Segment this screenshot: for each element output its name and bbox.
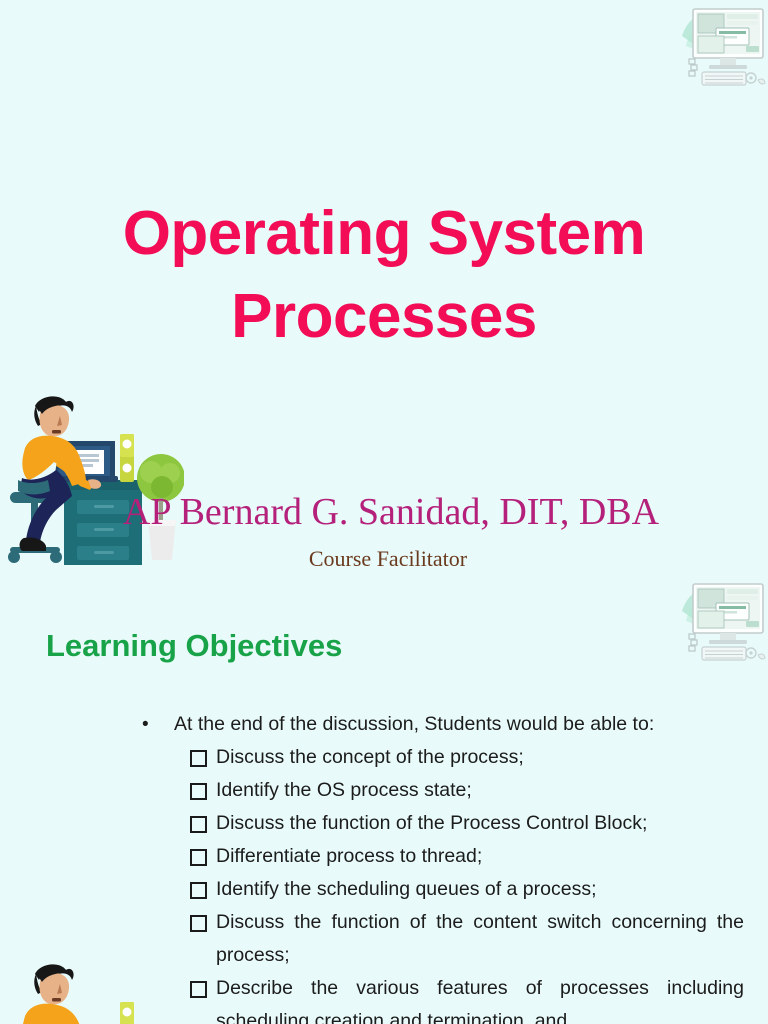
list-item-label: Identify the OS process state; xyxy=(216,774,746,807)
page-title: Operating System Processes xyxy=(0,192,768,358)
title-line-1: Operating System xyxy=(0,192,768,275)
objectives-lead-row: • At the end of the discussion, Students… xyxy=(142,708,746,741)
author-name: AP Bernard G. Sanidad, DIT, DBA xyxy=(0,489,768,535)
checkbox-icon xyxy=(190,774,216,800)
section-heading-learning-objectives: Learning Objectives xyxy=(46,626,342,666)
list-item-label: Discuss the function of the content swit… xyxy=(216,906,746,972)
list-item: Describe the various features of process… xyxy=(190,972,746,1024)
computer-monitor-icon xyxy=(676,577,768,669)
list-item: Identify the OS process state; xyxy=(190,774,746,807)
person-at-desk-illustration xyxy=(2,960,184,1024)
checkbox-icon xyxy=(190,807,216,833)
checkbox-icon xyxy=(190,906,216,932)
list-item: Differentiate process to thread; xyxy=(190,840,746,873)
author-role: Course Facilitator xyxy=(0,545,768,573)
computer-monitor-icon xyxy=(676,2,768,94)
slide-canvas: Operating System Processes xyxy=(0,0,768,1024)
list-item-label: Differentiate process to thread; xyxy=(216,840,746,873)
list-item: Discuss the function of the Process Cont… xyxy=(190,807,746,840)
checkbox-icon xyxy=(190,972,216,998)
objectives-sub-list: Discuss the concept of the process; Iden… xyxy=(142,741,746,1024)
list-item-label: Identify the scheduling queues of a proc… xyxy=(216,873,746,906)
list-item-label: Describe the various features of process… xyxy=(216,972,746,1024)
list-item: Discuss the function of the content swit… xyxy=(190,906,746,972)
checkbox-icon xyxy=(190,840,216,866)
list-item: Discuss the concept of the process; xyxy=(190,741,746,774)
learning-objectives-list: • At the end of the discussion, Students… xyxy=(142,708,746,1024)
list-item-label: Discuss the concept of the process; xyxy=(216,741,746,774)
bullet-dot-icon: • xyxy=(142,708,174,741)
list-item: Identify the scheduling queues of a proc… xyxy=(190,873,746,906)
objectives-lead-text: At the end of the discussion, Students w… xyxy=(174,708,746,741)
checkbox-icon xyxy=(190,741,216,767)
list-item-label: Discuss the function of the Process Cont… xyxy=(216,807,746,840)
title-line-2: Processes xyxy=(0,275,768,358)
checkbox-icon xyxy=(190,873,216,899)
